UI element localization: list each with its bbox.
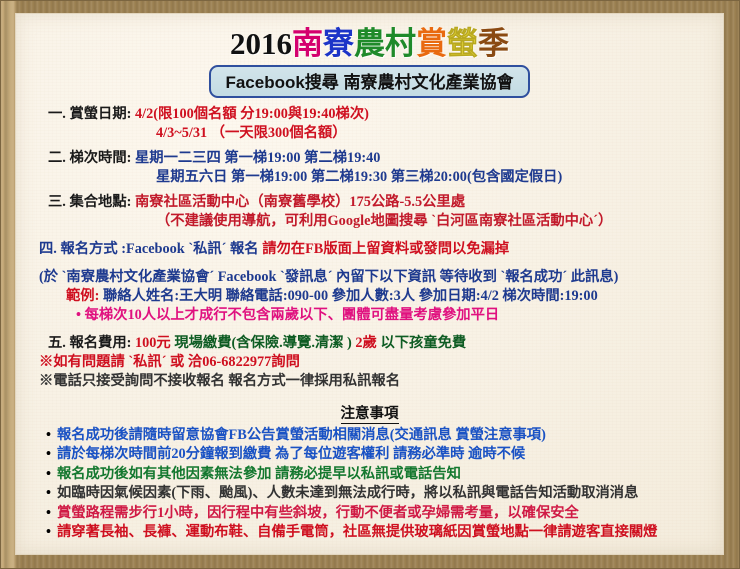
info-row-schedule: 二. 梯次時間: 星期一二三四 第一梯19:00 第二梯19:40 xyxy=(26,149,713,168)
info-row-phone-note: ※電話只接受詢問不接收報名 報名方式一律採用私訊報名 xyxy=(26,372,713,391)
list-item: •如臨時因氣候因素(下雨、颱風)、人數未達到無法成行時，將以私訊與電話告知活動取… xyxy=(46,484,713,504)
value-date-line1: 4/2(限100個名額 分19:00與19:40梯次) xyxy=(135,106,369,122)
info-row-date: 一. 賞螢日期: 4/2(限100個名額 分19:00與19:40梯次) xyxy=(26,105,713,124)
info-row-location-line2: （不建議使用導航，可利用Google地圖搜尋 ˋ白河區南寮社區活動中心ˊ） xyxy=(26,212,713,231)
value-group-rule: • 每梯次10人以上才成行不包含兩歲以下、團體可盡量考慮參加平日 xyxy=(76,307,499,323)
poster-paper: 2016南寮農村賞螢季 Facebook搜尋 南寮農村文化產業協會 一. 賞螢日… xyxy=(15,13,724,555)
value-fee-free-age: 2歲 xyxy=(355,335,376,351)
notice-heading: 注意事項 xyxy=(26,402,713,423)
list-item: •報名成功後請隨時留意協會FB公告賞螢活動相關消息(交通訊息 賞螢注意事項) xyxy=(46,426,713,446)
list-item: •請穿著長袖、長褲、運動布鞋、自備手電筒，社區無提供玻璃紙因賞螢地點一律請遊客直… xyxy=(46,523,713,543)
info-row-schedule-line2: 星期五六日 第一梯19:00 第二梯19:30 第三梯20:00(包含國定假日) xyxy=(26,168,713,187)
bullet-dot-icon: • xyxy=(46,465,57,485)
label-signup: 四. 報名方式 :Facebook ˋ私訊ˊ 報名 xyxy=(39,241,259,257)
notice-bullet-text: 請穿著長袖、長褲、運動布鞋、自備手電筒，社區無提供玻璃紙因賞螢地點一律請遊客直接… xyxy=(57,524,657,540)
facebook-search-banner: Facebook搜尋 南寮農村文化產業協會 xyxy=(209,65,529,98)
flyer-poster: 2016南寮農村賞螢季 Facebook搜尋 南寮農村文化產業協會 一. 賞螢日… xyxy=(0,0,740,569)
info-row-signup: 四. 報名方式 :Facebook ˋ私訊ˊ 報名 請勿在FB版面上留資料或發問… xyxy=(26,240,713,259)
title-char-ying: 螢 xyxy=(447,26,478,61)
notice-bullet-text: 賞螢路程需步行1小時，因行程中有些斜坡，行動不便者或孕婦需考量，以確保安全 xyxy=(57,505,579,521)
label-schedule: 二. 梯次時間: xyxy=(48,150,131,166)
bullet-dot-icon: • xyxy=(46,484,57,504)
value-phone-note: ※電話只接受詢問不接收報名 報名方式一律採用私訊報名 xyxy=(39,373,400,389)
info-row-group-rule: • 每梯次10人以上才成行不包含兩歲以下、團體可盡量考慮參加平日 xyxy=(26,306,713,325)
value-date-line2: 4/3~5/31 （一天限300個名額） xyxy=(156,125,347,141)
value-location-note: （不建議使用導航，可利用Google地圖搜尋 ˋ白河區南寮社區活動中心ˊ） xyxy=(156,213,612,229)
subtitle-container: Facebook搜尋 南寮農村文化產業協會 xyxy=(26,65,713,98)
notice-bullet-text: 報名成功後請隨時留意協會FB公告賞螢活動相關消息(交通訊息 賞螢注意事項) xyxy=(57,427,546,443)
title-char-liao: 寮 xyxy=(323,26,354,61)
info-row-date-line2: 4/3~5/31 （一天限300個名額） xyxy=(26,124,713,143)
spacer xyxy=(26,259,713,268)
info-row-contact-note: ※如有問題請 ˋ私訊ˊ 或 洽06-6822977詢問 xyxy=(26,353,713,372)
label-fee: 五. 報名費用: xyxy=(48,335,131,351)
value-fee-free-detail: 以下孩童免費 xyxy=(380,335,466,351)
value-fee-price: 100元 xyxy=(135,335,171,351)
info-row-location: 三. 集合地點: 南寮社區活動中心（南寮舊學校）175公路-5.5公里處 xyxy=(26,193,713,212)
list-item: •報名成功後如有其他因素無法參加 請務必提早以私訊或電話告知 xyxy=(46,465,713,485)
list-item: •賞螢路程需步行1小時，因行程中有些斜坡，行動不便者或孕婦需考量，以確保安全 xyxy=(46,504,713,524)
bullet-dot-icon: • xyxy=(46,523,57,543)
spacer xyxy=(26,325,713,334)
value-location-address: 南寮社區活動中心（南寮舊學校）175公路-5.5公里處 xyxy=(135,194,465,210)
list-item: •請於每梯次時間前20分鐘報到繳費 為了每位遊客權利 請務必準時 逾時不候 xyxy=(46,445,713,465)
value-example: 聯絡人姓名:王大明 聯絡電話:090-00 參加人數:3人 參加日期:4/2 梯… xyxy=(103,288,598,304)
value-fee-detail: 現場繳費(含保險.導覽.清潔 ) xyxy=(174,335,352,351)
value-signup-warning: 請勿在FB版面上留資料或發問以免漏掉 xyxy=(262,241,509,257)
label-location: 三. 集合地點: xyxy=(48,194,131,210)
value-signup-instructions: (於 ˋ南寮農村文化產業協會ˊ Facebook ˋ發訊息ˊ 內留下以下資訊 等… xyxy=(39,269,618,285)
label-example: 範例: xyxy=(66,288,99,304)
notice-bullet-text: 報名成功後如有其他因素無法參加 請務必提早以私訊或電話告知 xyxy=(57,466,461,482)
bullet-dot-icon: • xyxy=(46,426,57,446)
info-row-signup-note: (於 ˋ南寮農村文化產業協會ˊ Facebook ˋ發訊息ˊ 內留下以下資訊 等… xyxy=(26,268,713,287)
value-contact-note: ※如有問題請 ˋ私訊ˊ 或 洽06-6822977詢問 xyxy=(39,354,300,370)
page-title: 2016南寮農村賞螢季 xyxy=(26,27,713,62)
info-row-fee: 五. 報名費用: 100元 現場繳費(含保險.導覽.清潔 ) 2歲 以下孩童免費 xyxy=(26,334,713,353)
notice-bullet-list: •報名成功後請隨時留意協會FB公告賞螢活動相關消息(交通訊息 賞螢注意事項) •… xyxy=(26,426,713,543)
spacer xyxy=(26,231,713,240)
title-char-ji: 季 xyxy=(478,26,509,61)
info-row-example: 範例: 聯絡人姓名:王大明 聯絡電話:090-00 參加人數:3人 參加日期:4… xyxy=(26,287,713,306)
title-char-shang: 賞 xyxy=(416,26,447,61)
notice-heading-text: 注意事項 xyxy=(341,406,399,424)
label-date: 一. 賞螢日期: xyxy=(48,106,131,122)
title-char-nan: 南 xyxy=(292,26,323,61)
bullet-dot-icon: • xyxy=(46,445,57,465)
poster-body: 一. 賞螢日期: 4/2(限100個名額 分19:00與19:40梯次) 4/3… xyxy=(26,105,713,391)
value-schedule-weekend: 星期五六日 第一梯19:00 第二梯19:30 第三梯20:00(包含國定假日) xyxy=(156,169,562,185)
title-chars-nongcun: 農村 xyxy=(354,26,416,61)
notice-bullet-text: 請於每梯次時間前20分鐘報到繳費 為了每位遊客權利 請務必準時 逾時不候 xyxy=(57,446,525,462)
notice-bullet-text: 如臨時因氣候因素(下雨、颱風)、人數未達到無法成行時，將以私訊與電話告知活動取消… xyxy=(57,485,638,501)
bullet-dot-icon: • xyxy=(46,504,57,524)
title-year: 2016 xyxy=(230,26,292,61)
value-schedule-weekday: 星期一二三四 第一梯19:00 第二梯19:40 xyxy=(135,150,380,166)
